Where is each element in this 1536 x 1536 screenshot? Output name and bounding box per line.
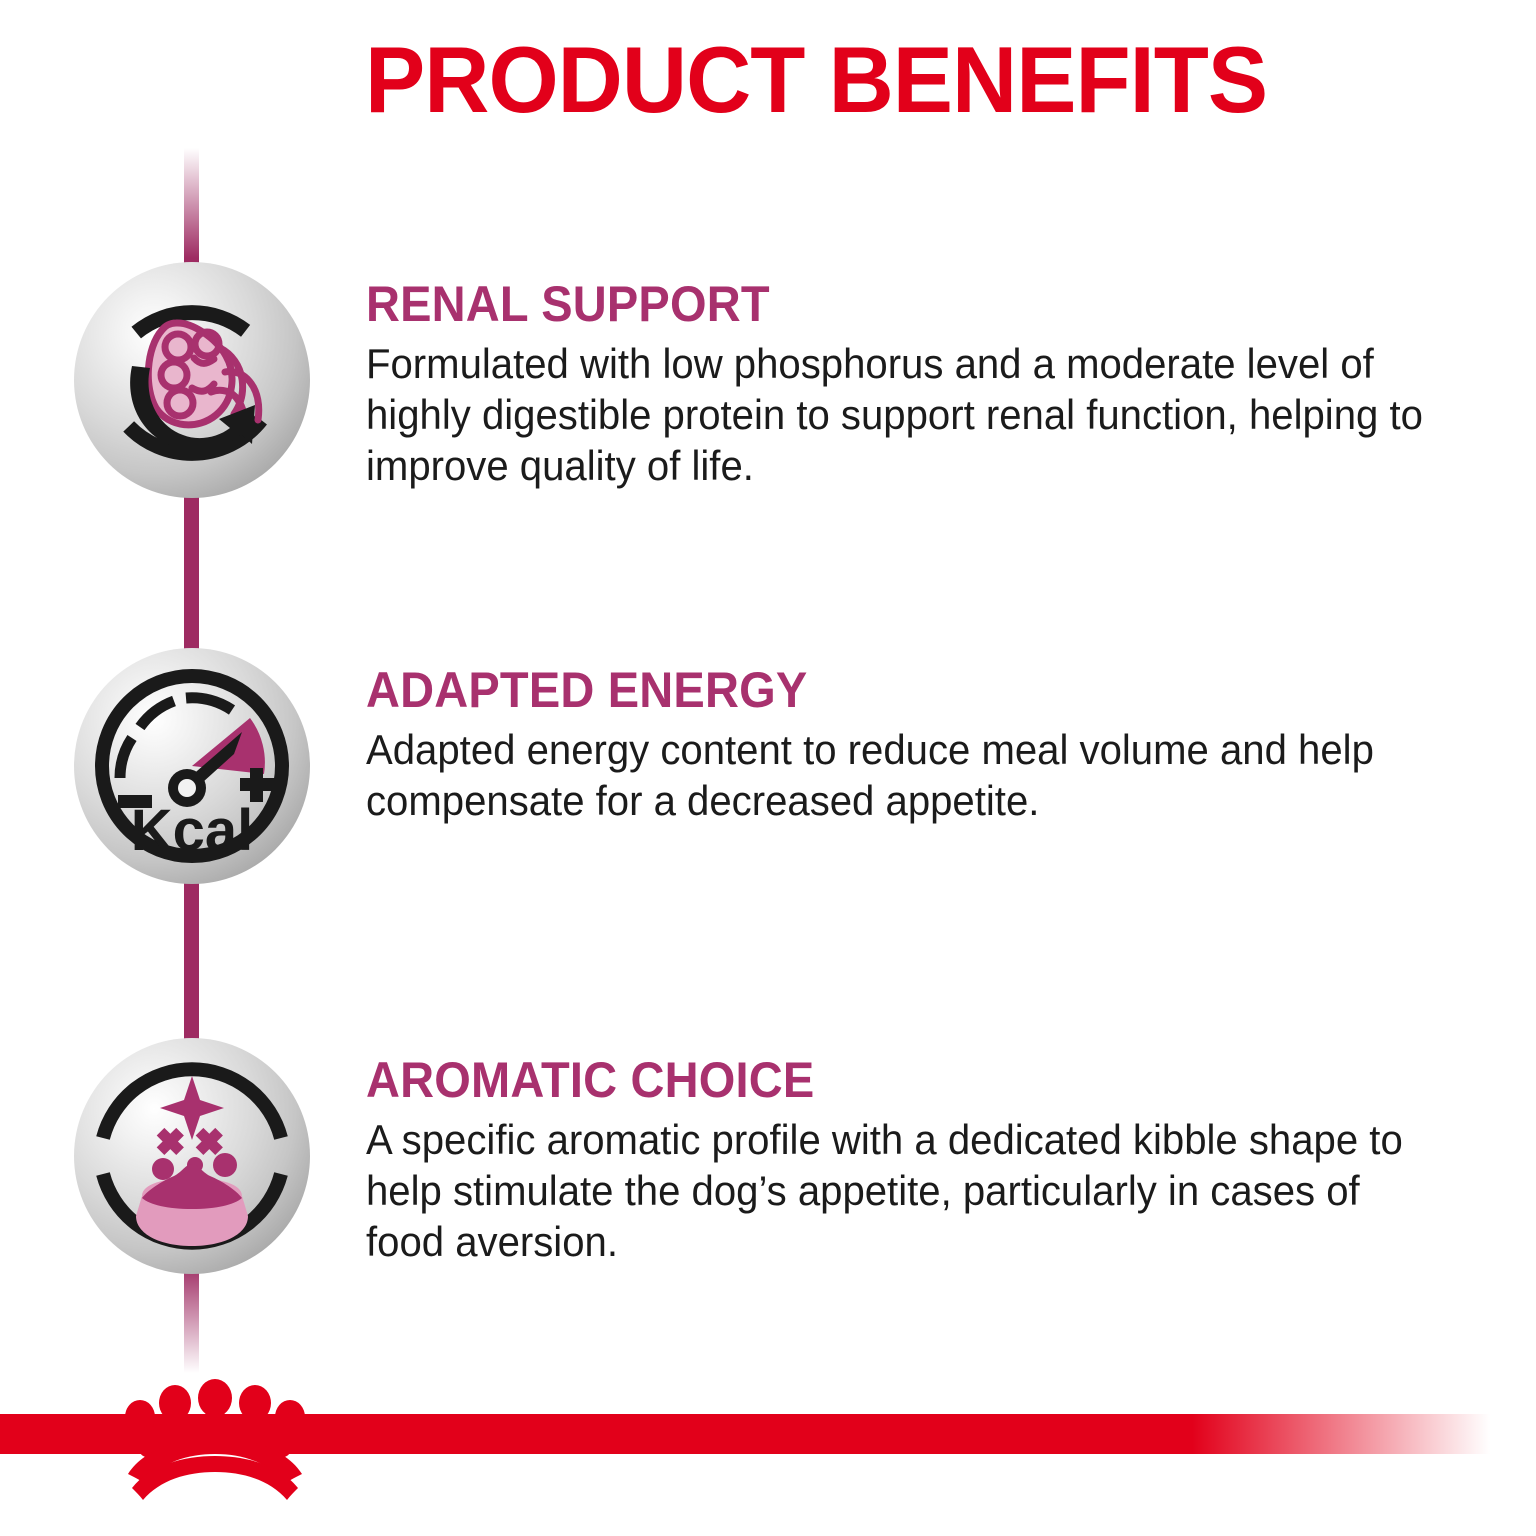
royal-canin-crown-logo — [100, 1376, 330, 1506]
benefit-text-aromatic-choice: AROMATIC CHOICE A specific aromatic prof… — [366, 1052, 1476, 1267]
page-title: PRODUCT BENEFITS — [365, 30, 1152, 130]
kcal-gauge-icon: Kcal — [74, 648, 310, 884]
svg-text:Kcal: Kcal — [131, 798, 254, 863]
benefit-body: Adapted energy content to reduce meal vo… — [366, 724, 1426, 826]
benefit-text-adapted-energy: ADAPTED ENERGY Adapted energy content to… — [366, 662, 1476, 826]
benefit-text-renal-support: RENAL SUPPORT Formulated with low phosph… — [366, 276, 1476, 491]
benefit-heading: RENAL SUPPORT — [366, 276, 1409, 332]
aromatic-food-bowl-icon — [74, 1038, 310, 1274]
footer — [0, 1376, 1536, 1536]
benefit-heading: AROMATIC CHOICE — [366, 1052, 1409, 1108]
benefit-body: A specific aromatic profile with a dedic… — [366, 1114, 1426, 1267]
product-benefits-page: PRODUCT BENEFITS — [0, 0, 1536, 1536]
benefit-body: Formulated with low phosphorus and a mod… — [366, 338, 1426, 491]
kidney-renal-icon — [74, 262, 310, 498]
benefit-heading: ADAPTED ENERGY — [366, 662, 1409, 718]
